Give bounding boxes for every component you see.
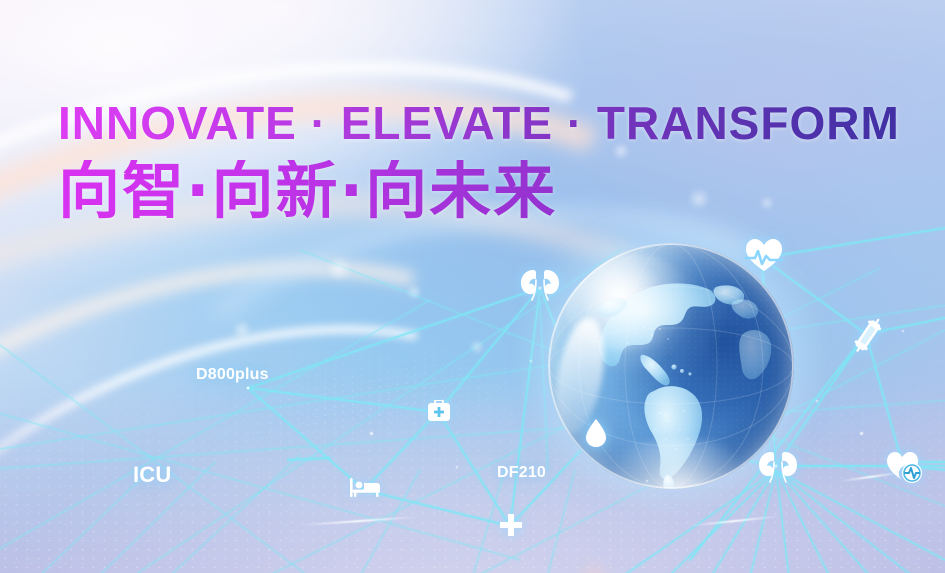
headline-chinese: 向智·向新·向未来 bbox=[58, 160, 900, 222]
bokeh-2 bbox=[406, 284, 422, 300]
spark-1 bbox=[370, 432, 373, 435]
streak-3 bbox=[840, 472, 900, 482]
label-icu: ICU bbox=[133, 462, 172, 488]
banner-canvas: D800plus ICU DF210 INNOVATE · ELEVATE · … bbox=[0, 0, 945, 573]
spark-3 bbox=[530, 360, 532, 362]
label-d800plus: D800plus bbox=[196, 366, 269, 384]
bokeh-6 bbox=[232, 320, 252, 340]
headline-block: INNOVATE · ELEVATE · TRANSFORM 向智·向新·向未来 bbox=[58, 100, 900, 222]
streak-2 bbox=[690, 515, 780, 526]
spark-5 bbox=[860, 432, 863, 435]
spark-6 bbox=[646, 480, 648, 482]
spark-2 bbox=[456, 466, 458, 468]
label-df210: DF210 bbox=[497, 464, 546, 482]
headline-english: INNOVATE · ELEVATE · TRANSFORM bbox=[58, 100, 900, 146]
streak-1 bbox=[300, 516, 420, 526]
spark-4 bbox=[816, 400, 818, 402]
spark-7 bbox=[902, 330, 904, 332]
bokeh-7 bbox=[470, 340, 484, 354]
bokeh-1 bbox=[326, 256, 352, 282]
